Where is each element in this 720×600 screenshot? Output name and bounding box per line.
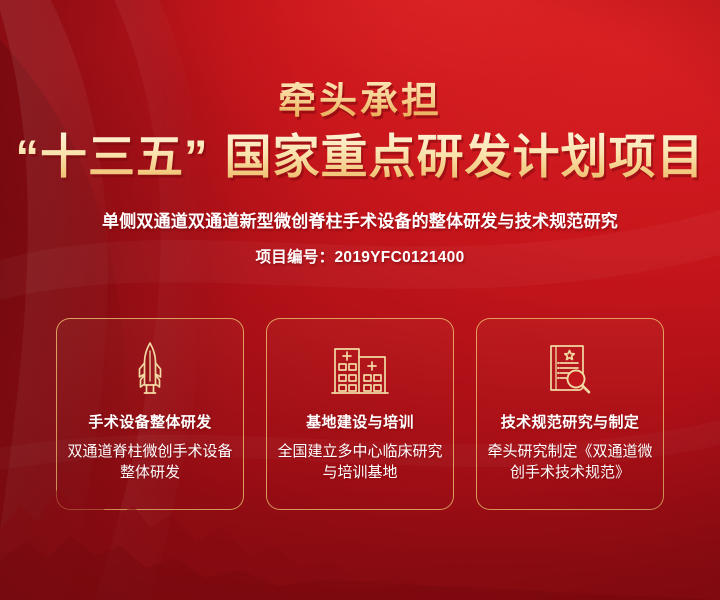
feature-card-title: 技术规范研究与制定	[501, 411, 640, 432]
feature-card-description: 全国建立多中心临床研究与培训基地	[276, 441, 444, 484]
feature-card-description: 双通道脊柱微创手术设备整体研发	[66, 441, 234, 484]
page-title-lead: 牵头承担	[0, 82, 720, 120]
feature-card-title: 手术设备整体研发	[88, 411, 211, 432]
document-magnifier-icon	[543, 341, 597, 397]
headline-block: 牵头承担 “十三五”国家重点研发计划项目 单侧双通道双通道新型微创脊柱手术设备的…	[0, 0, 720, 267]
hospital-building-icon	[331, 341, 389, 397]
feature-card-equipment[interactable]: 手术设备整体研发 双通道脊柱微创手术设备整体研发	[56, 318, 244, 510]
poster-banner: 牵头承担 “十三五”国家重点研发计划项目 单侧双通道双通道新型微创脊柱手术设备的…	[0, 0, 720, 600]
rocket-icon	[130, 341, 170, 397]
feature-card-list: 手术设备整体研发 双通道脊柱微创手术设备整体研发	[56, 318, 664, 510]
feature-card-training-base[interactable]: 基地建设与培训 全国建立多中心临床研究与培训基地	[266, 318, 454, 510]
feature-card-title: 基地建设与培训	[306, 411, 414, 432]
project-number: 项目编号：2019YFC0121400	[0, 245, 720, 267]
page-title-quoted: “十三五”	[16, 130, 209, 183]
feature-card-standards[interactable]: 技术规范研究与制定 牵头研究制定《双通道微创手术技术规范》	[476, 318, 664, 510]
feature-card-description: 牵头研究制定《双通道微创手术技术规范》	[486, 441, 654, 484]
page-subtitle: 单侧双通道双通道新型微创脊柱手术设备的整体研发与技术规范研究	[0, 207, 720, 232]
page-title-main: “十三五”国家重点研发计划项目	[0, 132, 720, 183]
page-title-rest: 国家重点研发计划项目	[225, 130, 705, 183]
